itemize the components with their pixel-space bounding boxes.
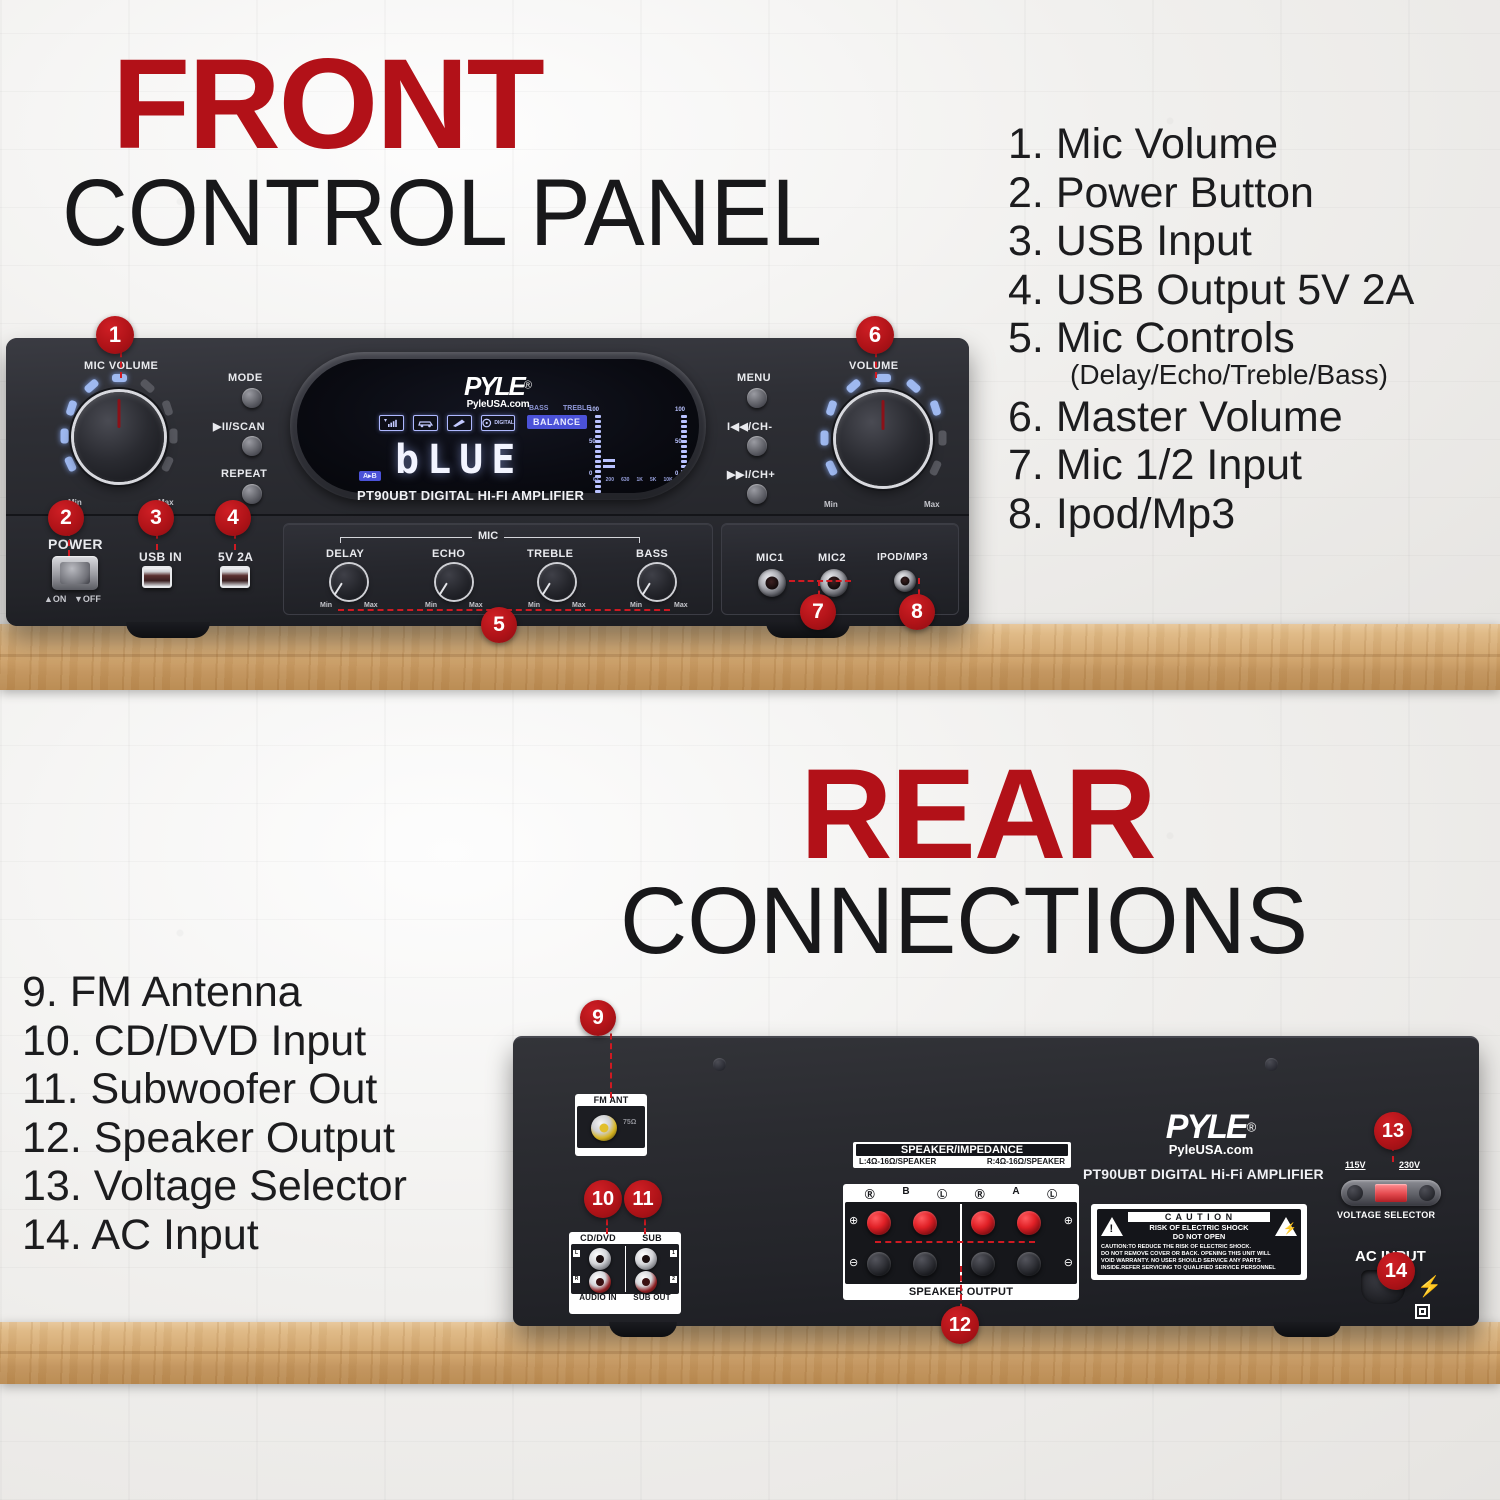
list-item: 14. AC Input — [22, 1211, 407, 1260]
rca-mark-2: 2 — [670, 1276, 677, 1283]
eq-dot — [681, 460, 687, 463]
mic-volume-knob-group[interactable] — [60, 378, 178, 496]
rear-screw-left — [713, 1058, 726, 1071]
eq-dot — [681, 490, 687, 493]
delay-knob-label: DELAY — [326, 548, 364, 560]
mic1-jack-label: MIC1 — [756, 552, 784, 564]
power-on-label: ▲ON — [44, 594, 66, 604]
speaker-terminal-b-l-pos[interactable] — [913, 1211, 937, 1235]
feat-num: 1. — [1008, 120, 1044, 168]
power-off-label: ▼OFF — [74, 594, 101, 604]
impedance-ratings: L:4Ω-16Ω/SPEAKER R:4Ω-16Ω/SPEAKER — [856, 1156, 1068, 1166]
voltage-slider-handle[interactable] — [1375, 1184, 1407, 1202]
feat-num: 5. — [1008, 314, 1044, 362]
rear-feature-list: 9. FM Antenna 10. CD/DVD Input 11. Subwo… — [22, 968, 407, 1259]
led-indicator — [821, 431, 829, 446]
front-heading-top: FRONT — [112, 46, 854, 164]
feat-label: Voltage Selector — [94, 1162, 407, 1210]
lightning-triangle-icon: ⚡ — [1275, 1217, 1297, 1236]
rear-foot-left — [609, 1322, 677, 1337]
eq-freq-tick: 12K — [680, 477, 689, 483]
eq-dot — [595, 450, 601, 453]
eq-dot — [595, 460, 601, 463]
treble-max-label: Max — [572, 602, 586, 609]
master-volume-max-label: Max — [924, 500, 940, 509]
eq-dot — [681, 420, 687, 423]
callout-badge-12[interactable]: 12 — [941, 1306, 979, 1344]
list-item: 6. Master Volume — [1008, 393, 1414, 442]
eq-dot — [681, 470, 687, 473]
car-icon — [413, 415, 438, 431]
led-indicator — [64, 456, 78, 473]
caution-title: C A U T I O N — [1128, 1212, 1270, 1222]
plus-symbol-left: ⊕ — [849, 1214, 858, 1227]
voltage-screw-left — [1347, 1185, 1363, 1201]
lcd-bezel: PYLE® PyleUSA.com DIGITAL BASS TREBLE BA… — [290, 352, 706, 500]
mic-group-bracket-tick — [340, 537, 341, 543]
callout-badge-13[interactable]: 13 — [1374, 1112, 1412, 1150]
usb-output-label: 5V 2A — [218, 550, 253, 564]
callout-badge-8[interactable]: 8 — [899, 594, 935, 630]
feat-label: Speaker Output — [94, 1114, 395, 1162]
eq-dot — [595, 430, 601, 433]
list-item: 4. USB Output 5V 2A — [1008, 266, 1414, 315]
eq-dot — [595, 470, 601, 473]
voltage-screw-right — [1419, 1185, 1435, 1201]
led-indicator — [83, 378, 100, 394]
eq-dot — [595, 415, 601, 418]
mode-button[interactable] — [242, 388, 262, 408]
pyle-wordmark-rear: PYLE — [1166, 1108, 1247, 1146]
front-heading-bottom: CONTROL PANEL — [62, 168, 822, 258]
feat-num: 14. — [22, 1211, 82, 1259]
callout-badge-6[interactable]: 6 — [856, 316, 894, 354]
audio-in-label: AUDIO IN — [571, 1294, 625, 1303]
bass-max-label: Max — [674, 602, 688, 609]
eq-freq-tick: 63 — [593, 477, 599, 483]
bass-knob-label: BASS — [636, 548, 668, 560]
bass-knob[interactable] — [639, 564, 675, 600]
pyle-wordmark: PYLE — [464, 371, 524, 401]
speaker-terminal-a-l-pos[interactable] — [1017, 1211, 1041, 1235]
feat-label: USB Input — [1056, 217, 1252, 265]
registered-trademark-icon-rear: ® — [1247, 1120, 1257, 1135]
feat-num: 13. — [22, 1162, 82, 1210]
impedance-right: R:4Ω-16Ω/SPEAKER — [987, 1157, 1065, 1166]
callout-badge-9[interactable]: 9 — [580, 1000, 616, 1036]
balance-indicator: BALANCE — [527, 415, 587, 429]
master-volume-knob-group[interactable] — [818, 378, 948, 502]
ipod-mp3-jack-label: IPOD/MP3 — [877, 552, 928, 563]
speaker-terminal-b-r-neg[interactable] — [867, 1252, 891, 1276]
rear-model-line: PT90UBT DIGITAL Hi-Fi AMPLIFIER — [1083, 1166, 1324, 1182]
callout-badge-5[interactable]: 5 — [481, 607, 517, 643]
treble-indicator-label: TREBLE — [563, 405, 591, 412]
power-switch[interactable] — [52, 556, 98, 590]
rear-section-heading: REAR CONNECTIONS — [660, 756, 1322, 966]
master-volume-min-label: Min — [824, 500, 838, 509]
class-two-icon — [1415, 1304, 1430, 1319]
delay-min-label: Min — [320, 602, 332, 609]
repeat-button-label: REPEAT — [221, 468, 267, 480]
feat-num: 7. — [1008, 441, 1044, 489]
eq-dot — [595, 465, 601, 468]
eq-freq-tick: 200 — [606, 477, 614, 483]
rear-foot-right — [1273, 1322, 1341, 1337]
ipod-mp3-jack[interactable] — [894, 570, 916, 592]
echo-knob-label: ECHO — [432, 548, 465, 560]
rca-block-footers: AUDIO IN SUB OUT — [571, 1294, 679, 1303]
mic1-jack[interactable] — [758, 569, 786, 597]
sub-out-2-jack[interactable] — [635, 1271, 657, 1293]
speaker-terminal-a-r-neg[interactable] — [971, 1252, 995, 1276]
callout-badge-3[interactable]: 3 — [138, 500, 174, 536]
mic-group-bracket-tick — [639, 537, 640, 543]
echo-min-label: Min — [425, 602, 437, 609]
caution-body-line: VOID WARRANTY. NO USER SHOULD SERVICE AN… — [1101, 1258, 1297, 1265]
eq-dot — [595, 425, 601, 428]
rca-mark-1: 1 — [670, 1250, 677, 1257]
play-scan-button-label: ▶II/SCAN — [213, 420, 265, 433]
digital-icon: DIGITAL — [481, 415, 515, 431]
mic-controls-panel: MIC DELAY Min Max ECHO Min Max TREBLE Mi… — [283, 523, 713, 615]
eq-freq-tick: 5K — [650, 477, 656, 483]
delay-max-label: Max — [364, 602, 378, 609]
eq-dot — [681, 430, 687, 433]
terminal-mark-R-a: Ⓡ — [975, 1186, 985, 1201]
minus-symbol-right: ⊖ — [1064, 1256, 1073, 1269]
amplifier-rear-panel: FM ANT 75Ω CD/DVD SUB L R 1 2 AUDIO IN S… — [513, 1036, 1479, 1326]
led-indicator — [939, 431, 947, 446]
amplifier-front-panel: MIC VOLUME Min Max MODE ▶II/SCAN REPEAT … — [6, 338, 969, 626]
power-label: POWER — [48, 536, 103, 552]
voltage-230-label: 230V — [1399, 1160, 1420, 1170]
feat-num: 11. — [22, 1065, 79, 1113]
callout-badge-11[interactable]: 11 — [624, 1180, 662, 1218]
eq-dot — [681, 450, 687, 453]
eq-dot — [595, 420, 601, 423]
eq-freq-tick: 630 — [621, 477, 629, 483]
pen-icon — [447, 415, 472, 431]
jack-core — [642, 1278, 650, 1286]
terminal-mark-L-a: Ⓛ — [1047, 1186, 1057, 1201]
speaker-terminal-a-r-pos[interactable] — [971, 1211, 995, 1235]
eq-dot — [595, 435, 601, 438]
caution-inner: ! C A U T I O N RISK OF ELECTRIC SHOCK D… — [1097, 1209, 1301, 1275]
eq-dot — [681, 445, 687, 448]
bass-indicator-label: BASS — [529, 405, 548, 412]
mic-group-label: MIC — [472, 530, 504, 542]
led-indicator — [65, 400, 77, 417]
feat-label: Power Button — [1056, 169, 1314, 217]
terminal-marks-row: Ⓡ B Ⓛ Ⓡ A Ⓛ — [845, 1186, 1077, 1201]
pyle-website: PyleUSA.com — [464, 399, 532, 410]
registered-trademark-icon: ® — [524, 380, 532, 392]
warning-triangle-icon: ! — [1101, 1217, 1123, 1236]
usb-in-label: USB IN — [139, 550, 182, 564]
led-indicator — [170, 429, 178, 444]
front-section-heading: FRONT CONTROL PANEL — [112, 46, 854, 258]
eq-dot — [681, 455, 687, 458]
wood-shelf-top — [0, 624, 1500, 690]
menu-button-label: MENU — [737, 372, 771, 384]
led-indicator — [905, 378, 922, 394]
fm-antenna-jack[interactable] — [591, 1115, 617, 1141]
terminal-mark-A: A — [1012, 1186, 1019, 1201]
list-item: 11. Subwoofer Out — [22, 1065, 407, 1114]
sub-out-1-jack[interactable] — [635, 1248, 657, 1270]
feat-label: USB Output 5V 2A — [1056, 266, 1415, 314]
feat-num: 6. — [1008, 393, 1044, 441]
feat-label: CD/DVD Input — [94, 1017, 366, 1065]
treble-knob[interactable] — [539, 564, 575, 600]
rca-mark-L: L — [573, 1250, 580, 1257]
speaker-terminal-a-l-neg[interactable] — [1017, 1252, 1041, 1276]
echo-knob[interactable] — [436, 564, 472, 600]
jack-core — [596, 1278, 604, 1286]
eq-bar-marker — [603, 465, 615, 468]
list-item: 1. Mic Volume — [1008, 120, 1414, 169]
list-item: 13. Voltage Selector — [22, 1162, 407, 1211]
eq-dot — [595, 445, 601, 448]
master-volume-knob[interactable] — [836, 392, 930, 486]
rca-mark-R: R — [573, 1276, 580, 1283]
terminal-mark-R-b: Ⓡ — [865, 1186, 875, 1201]
delay-knob[interactable] — [331, 564, 367, 600]
feat-label: Subwoofer Out — [91, 1065, 378, 1113]
sub-out-label: SUB OUT — [625, 1294, 679, 1303]
feat-num: 8. — [1008, 490, 1044, 538]
menu-button[interactable] — [747, 388, 767, 408]
eq-dot — [595, 455, 601, 458]
leader-line-7 — [789, 580, 851, 582]
eq-freq-tick: 1K — [637, 477, 643, 483]
caution-label-block: ! C A U T I O N RISK OF ELECTRIC SHOCK D… — [1091, 1204, 1307, 1280]
eq-dot — [681, 485, 687, 488]
feat-label: Master Volume — [1056, 393, 1343, 441]
feat-num: 4. — [1008, 266, 1044, 314]
rear-brand-block: PYLE® PyleUSA.com — [1121, 1108, 1301, 1157]
led-indicator — [845, 378, 862, 394]
jack-core — [642, 1255, 650, 1263]
rca-block-inner: L R 1 2 — [571, 1244, 679, 1294]
eq-frequency-ticks: 632006301K5K10K12K — [593, 477, 689, 483]
list-item: 7. Mic 1/2 Input — [1008, 441, 1414, 490]
feat-label: AC Input — [91, 1211, 258, 1259]
front-feature-list: 1. Mic Volume 2. Power Button 3. USB Inp… — [1008, 120, 1414, 538]
mic2-jack-label: MIC2 — [818, 552, 846, 564]
treble-min-label: Min — [528, 602, 540, 609]
signal-icon — [379, 415, 404, 431]
class-two-inner — [1419, 1308, 1426, 1315]
lcd-brand-block: PYLE® PyleUSA.com — [464, 371, 532, 410]
eq-dot — [681, 465, 687, 468]
led-indicator — [161, 456, 175, 473]
feat-num: 9. — [22, 968, 58, 1016]
voltage-selector-label: VOLTAGE SELECTOR — [1337, 1210, 1435, 1220]
terminal-mark-B: B — [902, 1186, 909, 1201]
eq-dot — [595, 485, 601, 488]
list-item: 8. Ipod/Mp3 — [1008, 490, 1414, 539]
eq-dot — [681, 415, 687, 418]
voltage-115-label: 115V — [1345, 1160, 1366, 1170]
aux-tag-indicator: A▸B — [359, 471, 381, 481]
ipod-mp3-jack-hole — [901, 577, 910, 586]
mic2-jack[interactable] — [820, 569, 848, 597]
bass-min-label: Min — [630, 602, 642, 609]
wood-shelf-bottom — [0, 1322, 1500, 1384]
sub-label: SUB — [625, 1234, 679, 1244]
feat-label: FM Antenna — [70, 968, 302, 1016]
terminal-mark-L-b: Ⓛ — [937, 1186, 947, 1201]
list-item: 3. USB Input — [1008, 217, 1414, 266]
rca-divider — [625, 1246, 626, 1292]
lcd-display: PYLE® PyleUSA.com DIGITAL BASS TREBLE BA… — [297, 359, 699, 493]
mic1-jack-hole — [766, 577, 779, 590]
eq-left-top-label: 100 — [589, 407, 599, 413]
mic2-jack-hole — [828, 577, 841, 590]
callout-badge-14[interactable]: 14 — [1377, 1252, 1415, 1290]
rca-block-titles: CD/DVD SUB — [571, 1234, 679, 1244]
list-item: 9. FM Antenna — [22, 968, 407, 1017]
echo-max-label: Max — [469, 602, 483, 609]
feat-label: Mic Controls — [1056, 314, 1295, 362]
pyle-website-rear: PyleUSA.com — [1121, 1142, 1301, 1157]
terminal-leader-line — [875, 1241, 1035, 1243]
cd-dvd-label: CD/DVD — [571, 1234, 625, 1244]
eq-bar-marker — [603, 459, 615, 462]
callout-badge-4[interactable]: 4 — [215, 500, 251, 536]
cd-dvd-left-jack[interactable] — [589, 1248, 611, 1270]
treble-knob-label: TREBLE — [527, 548, 573, 560]
callout-badge-2[interactable]: 2 — [48, 500, 84, 536]
eq-right-top-label: 100 — [675, 407, 685, 413]
eq-dot — [595, 490, 601, 493]
list-item: 10. CD/DVD Input — [22, 1017, 407, 1066]
rear-heading-top: REAR — [800, 756, 1322, 874]
usb-output-port[interactable] — [220, 566, 250, 588]
front-model-line: PT90UBT DIGITAL HI-FI AMPLIFIER — [357, 488, 584, 503]
next-channel-button[interactable] — [747, 484, 767, 504]
feat-label: Ipod/Mp3 — [1056, 490, 1235, 538]
feat-num: 12. — [22, 1114, 82, 1162]
speaker-terminal-b-r-pos[interactable] — [867, 1211, 891, 1235]
rca-inputs-block[interactable]: CD/DVD SUB L R 1 2 AUDIO IN SUB OUT — [569, 1232, 681, 1314]
list-item: 5. Mic Controls — [1008, 314, 1414, 363]
eq-dot — [681, 435, 687, 438]
caution-heading-group: C A U T I O N RISK OF ELECTRIC SHOCK DO … — [1128, 1212, 1270, 1241]
caution-body-line: DO NOT REMOVE COVER OR BACK. OPENING THI… — [1101, 1251, 1297, 1258]
fm-antenna-connector-block[interactable]: FM ANT 75Ω — [575, 1094, 647, 1156]
led-indicator — [161, 400, 173, 417]
jack-core — [596, 1255, 604, 1263]
feat-num: 2. — [1008, 169, 1044, 217]
power-switch-rocker[interactable] — [60, 562, 90, 584]
caution-body-line: INSIDE.REFER SERVICING TO QUALIFIED SERV… — [1101, 1265, 1297, 1272]
led-indicator — [139, 378, 156, 394]
caution-top-row: ! C A U T I O N RISK OF ELECTRIC SHOCK D… — [1101, 1212, 1297, 1241]
callout-badge-1[interactable]: 1 — [96, 316, 134, 354]
callout-badge-7[interactable]: 7 — [800, 594, 836, 630]
prev-channel-button[interactable] — [747, 436, 767, 456]
lightning-bolt-icon: ⚡ — [1417, 1274, 1442, 1299]
list-item: 12. Speaker Output — [22, 1114, 407, 1163]
fm-antenna-jack-core — [600, 1123, 609, 1132]
next-channel-button-label: ▶▶I/CH+ — [727, 468, 775, 481]
rear-heading-bottom: CONNECTIONS — [620, 876, 1308, 966]
play-scan-button[interactable] — [242, 436, 262, 456]
caution-sub2: DO NOT OPEN — [1128, 1232, 1270, 1241]
rear-screw-right — [1265, 1058, 1278, 1071]
feat-sublabel: (Delay/Echo/Treble/Bass) — [1070, 360, 1414, 391]
caution-body-line: CAUTION:TO REDUCE THE RISK OF ELECTRIC S… — [1101, 1244, 1297, 1251]
feat-num: 10. — [22, 1017, 82, 1065]
repeat-button[interactable] — [242, 484, 262, 504]
feat-num: 3. — [1008, 217, 1044, 265]
eq-left-bottom-label: 0 — [589, 471, 592, 477]
master-volume-label: VOLUME — [849, 360, 898, 372]
speaker-impedance-title: SPEAKER/IMPEDANCE — [856, 1144, 1068, 1156]
led-indicator — [876, 374, 891, 382]
speaker-impedance-block: SPEAKER/IMPEDANCE L:4Ω-16Ω/SPEAKER R:4Ω-… — [853, 1142, 1071, 1168]
eq-dot — [681, 440, 687, 443]
eq-dot — [595, 440, 601, 443]
led-indicator — [929, 460, 943, 477]
lcd-main-text: bLUE — [395, 437, 523, 483]
fm-ant-impedance-note: 75Ω — [623, 1119, 636, 1126]
caution-body: CAUTION:TO REDUCE THE RISK OF ELECTRIC S… — [1101, 1244, 1297, 1272]
led-indicator — [61, 429, 69, 444]
prev-channel-button-label: I◀◀/CH- — [727, 420, 772, 433]
front-foot-left — [126, 622, 210, 638]
led-indicator — [825, 400, 837, 417]
feat-label: Mic Volume — [1056, 120, 1278, 168]
caution-sub1: RISK OF ELECTRIC SHOCK — [1128, 1223, 1270, 1232]
list-item: 2. Power Button — [1008, 169, 1414, 218]
voltage-selector-switch[interactable] — [1341, 1180, 1441, 1206]
cd-dvd-right-jack[interactable] — [589, 1271, 611, 1293]
impedance-left: L:4Ω-16Ω/SPEAKER — [859, 1157, 936, 1166]
fm-ant-inner: 75Ω — [577, 1106, 645, 1148]
eq-dot — [681, 425, 687, 428]
led-indicator — [929, 400, 941, 417]
minus-symbol-left: ⊖ — [849, 1256, 858, 1269]
mode-button-label: MODE — [228, 372, 263, 384]
speaker-terminal-b-l-neg[interactable] — [913, 1252, 937, 1276]
callout-badge-10[interactable]: 10 — [584, 1180, 622, 1218]
feat-label: Mic 1/2 Input — [1056, 441, 1302, 489]
usb-in-port[interactable] — [142, 566, 172, 588]
eq-freq-tick: 10K — [664, 477, 673, 483]
plus-symbol-right: ⊕ — [1064, 1214, 1073, 1227]
mic-volume-knob[interactable] — [74, 392, 164, 482]
led-indicator — [825, 460, 839, 477]
